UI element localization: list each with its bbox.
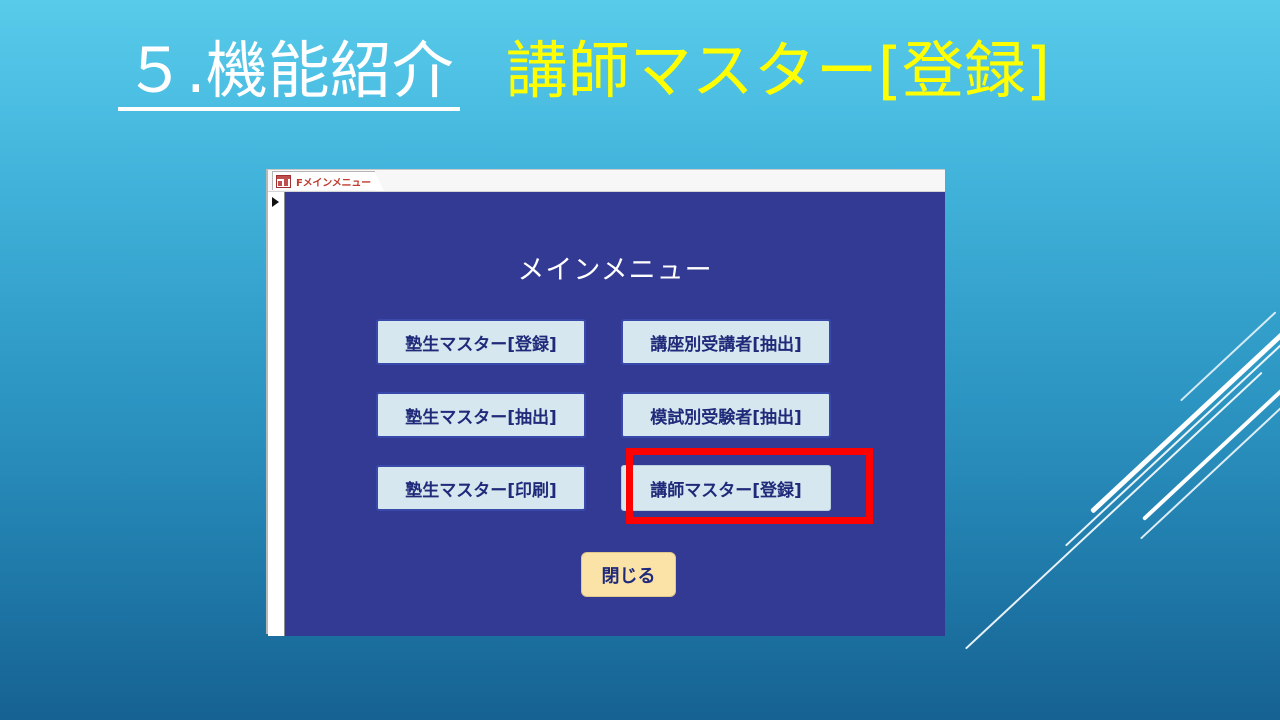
slide-title-main: ５.機能紹介 <box>118 38 460 111</box>
record-indicator-arrow-icon <box>272 197 279 207</box>
streak-line-1 <box>1090 275 1280 514</box>
button-mock-exam-takers-extract[interactable]: 模試別受験者[抽出] <box>621 392 831 438</box>
button-jukusei-master-extract[interactable]: 塾生マスター[抽出] <box>376 392 586 438</box>
button-jukusei-master-print[interactable]: 塾生マスター[印刷] <box>376 465 586 511</box>
grid-spacer <box>586 465 621 511</box>
form-canvas: メインメニュー 塾生マスター[登録] 講座別受講者[抽出] 塾生マスター[抽出]… <box>285 192 945 636</box>
close-button[interactable]: 閉じる <box>581 552 676 597</box>
tab-f-main-menu[interactable]: Fメインメニュー <box>272 171 375 190</box>
grid-spacer <box>586 319 621 365</box>
streak-line-6 <box>1180 311 1276 401</box>
button-course-attendees-extract[interactable]: 講座別受講者[抽出] <box>621 319 831 365</box>
menu-button-grid: 塾生マスター[登録] 講座別受講者[抽出] 塾生マスター[抽出] 模試別受験者[… <box>376 319 831 511</box>
access-window: Fメインメニュー メインメニュー 塾生マスター[登録] 講座別受講者[抽出] 塾… <box>266 169 945 634</box>
slide-title: ５.機能紹介 講師マスター[登録] <box>118 38 1050 111</box>
streak-line-4 <box>1142 354 1280 521</box>
form-title: メインメニュー <box>285 248 945 287</box>
tab-label: Fメインメニュー <box>296 174 371 189</box>
form-area: メインメニュー 塾生マスター[登録] 講座別受講者[抽出] 塾生マスター[抽出]… <box>268 192 945 636</box>
access-form-icon <box>276 175 291 188</box>
document-tab-strip: Fメインメニュー <box>268 170 945 192</box>
record-selector[interactable] <box>268 192 285 636</box>
slide-canvas: ５.機能紹介 講師マスター[登録] Fメインメニュー メインメニュー 塾生マスタ… <box>0 0 1280 720</box>
streak-line-3 <box>1140 333 1280 539</box>
streak-line-5 <box>965 372 1263 650</box>
button-jukusei-master-register[interactable]: 塾生マスター[登録] <box>376 319 586 365</box>
slide-title-accent: 講師マスター[登録] <box>506 38 1050 107</box>
grid-spacer <box>586 392 621 438</box>
streak-line-2 <box>1065 259 1280 547</box>
button-instructor-master-register[interactable]: 講師マスター[登録] <box>621 465 831 511</box>
